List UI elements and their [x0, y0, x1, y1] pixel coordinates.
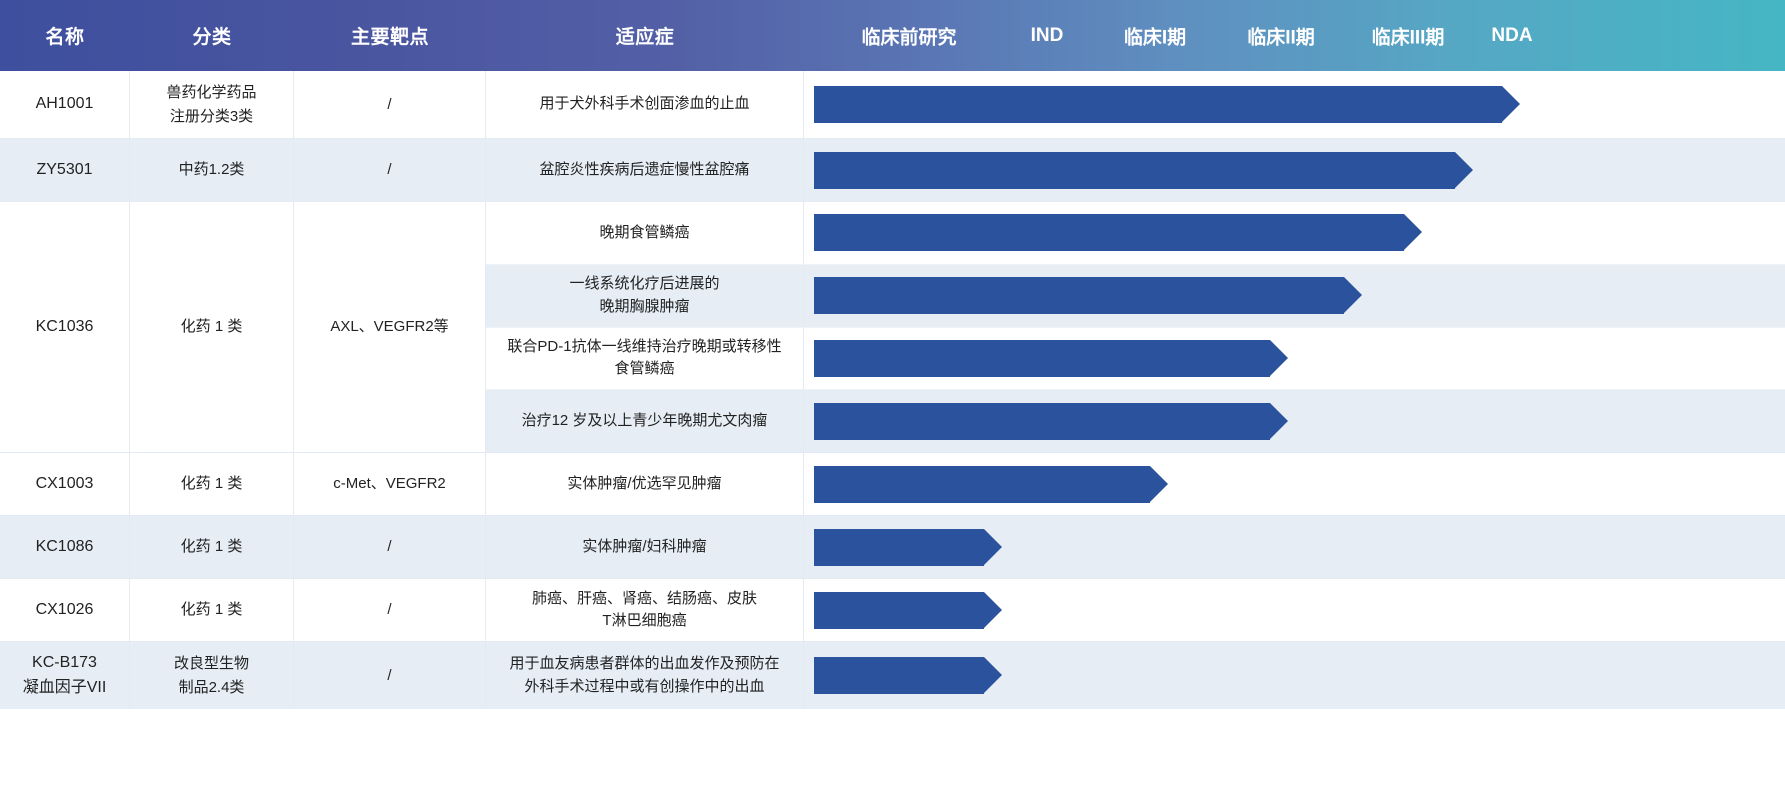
table-row: AH1001兽药化学药品注册分类3类/用于犬外科手术创面渗血的止血	[0, 71, 1785, 139]
table-row: KC-B173凝血因子VII改良型生物制品2.4类/用于血友病患者群体的出血发作…	[0, 642, 1785, 709]
indication-line: 联合PD-1抗体一线维持治疗晚期或转移性	[507, 336, 781, 359]
cell-program-name: KC1036	[0, 202, 130, 452]
progress-arrow	[814, 86, 1502, 123]
header-cell-target: 主要靶点	[294, 22, 486, 49]
progress-bar-cell	[804, 642, 1785, 709]
phase-label-3: 临床II期	[1247, 22, 1315, 49]
cell-drug-class-line: 化药 1 类	[181, 472, 243, 495]
indication-row: 一线系统化疗后进展的晚期胸腺肿瘤	[486, 264, 1785, 327]
progress-arrow	[814, 592, 984, 629]
program-name-line: KC-B173	[23, 651, 107, 676]
phase-label-0: 临床前研究	[861, 22, 956, 49]
cell-target: c-Met、VEGFR2	[294, 453, 486, 515]
header-cell-class: 分类	[130, 22, 294, 49]
cell-drug-class: 改良型生物制品2.4类	[130, 642, 294, 709]
cell-program-name: CX1003	[0, 453, 130, 515]
indication-row: 晚期食管鳞癌	[486, 202, 1785, 264]
program-name-line: AH1001	[36, 92, 94, 117]
cell-drug-class: 化药 1 类	[130, 453, 294, 515]
cell-indication: 一线系统化疗后进展的晚期胸腺肿瘤	[486, 265, 804, 327]
progress-arrow	[814, 529, 984, 566]
cell-program-name: AH1001	[0, 71, 130, 138]
phase-label-2: 临床I期	[1124, 22, 1186, 49]
indication-row: 用于犬外科手术创面渗血的止血	[486, 71, 1785, 138]
target-text: /	[387, 664, 391, 687]
indication-row: 用于血友病患者群体的出血发作及预防在外科手术过程中或有创操作中的出血	[486, 642, 1785, 709]
target-text: /	[387, 598, 391, 621]
cell-target: /	[294, 579, 486, 641]
program-name-line: KC1086	[36, 535, 94, 560]
phase-label-1: IND	[1031, 25, 1064, 47]
indication-row: 联合PD-1抗体一线维持治疗晚期或转移性食管鳞癌	[486, 327, 1785, 390]
indication-row: 治疗12 岁及以上青少年晚期尤文肉瘤	[486, 389, 1785, 452]
indication-line: 食管鳞癌	[507, 358, 781, 381]
cell-indication: 联合PD-1抗体一线维持治疗晚期或转移性食管鳞癌	[486, 328, 804, 390]
indication-line: 晚期食管鳞癌	[599, 222, 689, 245]
program-name-line: KC1036	[36, 315, 94, 340]
pipeline-table: 名称 分类 主要靶点 适应症 临床前研究IND临床I期临床II期临床III期ND…	[0, 0, 1785, 790]
cell-indication: 实体肿瘤/妇科肿瘤	[486, 516, 804, 578]
indication-subrows: 实体肿瘤/妇科肿瘤	[486, 516, 1785, 578]
cell-target: /	[294, 139, 486, 201]
indication-line: T淋巴细胞癌	[532, 610, 757, 633]
indication-line: 治疗12 岁及以上青少年晚期尤文肉瘤	[522, 410, 768, 433]
cell-drug-class: 化药 1 类	[130, 579, 294, 641]
target-text: /	[387, 93, 391, 116]
table-row: KC1086化药 1 类/实体肿瘤/妇科肿瘤	[0, 516, 1785, 579]
indication-row: 实体肿瘤/优选罕见肿瘤	[486, 453, 1785, 515]
indication-line: 外科手术过程中或有创操作中的出血	[509, 676, 779, 699]
cell-drug-class-line: 注册分类3类	[166, 105, 256, 128]
progress-arrow	[814, 340, 1270, 377]
indication-subrows: 盆腔炎性疾病后遗症慢性盆腔痛	[486, 139, 1785, 201]
progress-arrow	[814, 214, 1404, 251]
progress-arrow	[814, 277, 1344, 314]
cell-target: AXL、VEGFR2等	[294, 202, 486, 452]
program-name-line: 凝血因子VII	[23, 676, 107, 701]
program-name-line: ZY5301	[36, 158, 92, 183]
program-name-line: CX1003	[36, 472, 94, 497]
progress-bar-cell	[804, 202, 1785, 264]
target-text: c-Met、VEGFR2	[333, 472, 446, 495]
cell-drug-class-line: 化药 1 类	[181, 598, 243, 621]
indication-line: 用于血友病患者群体的出血发作及预防在	[509, 653, 779, 676]
progress-bar-cell	[804, 139, 1785, 201]
cell-drug-class: 兽药化学药品注册分类3类	[130, 71, 294, 138]
phase-label-5: NDA	[1491, 25, 1532, 47]
progress-bar-cell	[804, 265, 1785, 327]
indication-subrows: 肺癌、肝癌、肾癌、结肠癌、皮肤T淋巴细胞癌	[486, 579, 1785, 641]
cell-drug-class: 化药 1 类	[130, 516, 294, 578]
cell-drug-class-line: 兽药化学药品	[166, 81, 256, 104]
progress-arrow	[814, 657, 984, 694]
indication-line: 用于犬外科手术创面渗血的止血	[539, 93, 749, 116]
cell-target: /	[294, 516, 486, 578]
progress-bar-cell	[804, 390, 1785, 452]
indication-row: 肺癌、肝癌、肾癌、结肠癌、皮肤T淋巴细胞癌	[486, 579, 1785, 641]
target-text: /	[387, 535, 391, 558]
cell-indication: 治疗12 岁及以上青少年晚期尤文肉瘤	[486, 390, 804, 452]
cell-program-name: CX1026	[0, 579, 130, 641]
phase-label-4: 临床III期	[1372, 22, 1445, 49]
header-phase-axis: 临床前研究IND临床I期临床II期临床III期NDA	[804, 0, 1785, 71]
indication-line: 晚期胸腺肿瘤	[569, 296, 719, 319]
progress-bar-cell	[804, 328, 1785, 390]
cell-indication: 用于犬外科手术创面渗血的止血	[486, 71, 804, 138]
cell-target: /	[294, 642, 486, 709]
cell-drug-class-line: 制品2.4类	[174, 676, 249, 699]
cell-indication: 肺癌、肝癌、肾癌、结肠癌、皮肤T淋巴细胞癌	[486, 579, 804, 641]
cell-indication: 晚期食管鳞癌	[486, 202, 804, 264]
cell-indication: 实体肿瘤/优选罕见肿瘤	[486, 453, 804, 515]
cell-drug-class-line: 化药 1 类	[181, 315, 243, 338]
progress-arrow	[814, 466, 1150, 503]
target-text: /	[387, 158, 391, 181]
indication-line: 实体肿瘤/优选罕见肿瘤	[567, 473, 721, 496]
progress-bar-cell	[804, 453, 1785, 515]
cell-drug-class-line: 中药1.2类	[179, 158, 245, 181]
indication-subrows: 用于血友病患者群体的出血发作及预防在外科手术过程中或有创操作中的出血	[486, 642, 1785, 709]
table-row: CX1003化药 1 类c-Met、VEGFR2实体肿瘤/优选罕见肿瘤	[0, 453, 1785, 516]
cell-drug-class: 中药1.2类	[130, 139, 294, 201]
cell-indication: 盆腔炎性疾病后遗症慢性盆腔痛	[486, 139, 804, 201]
progress-bar-cell	[804, 579, 1785, 641]
progress-arrow	[814, 152, 1455, 189]
cell-drug-class: 化药 1 类	[130, 202, 294, 452]
progress-bar-cell	[804, 516, 1785, 578]
indication-line: 盆腔炎性疾病后遗症慢性盆腔痛	[539, 159, 749, 182]
table-body: AH1001兽药化学药品注册分类3类/用于犬外科手术创面渗血的止血ZY5301中…	[0, 71, 1785, 709]
indication-subrows: 晚期食管鳞癌一线系统化疗后进展的晚期胸腺肿瘤联合PD-1抗体一线维持治疗晚期或转…	[486, 202, 1785, 452]
table-row: CX1026化药 1 类/肺癌、肝癌、肾癌、结肠癌、皮肤T淋巴细胞癌	[0, 579, 1785, 642]
cell-target: /	[294, 71, 486, 138]
cell-program-name: KC1086	[0, 516, 130, 578]
header-cell-name: 名称	[0, 22, 130, 49]
target-text: AXL、VEGFR2等	[330, 315, 448, 338]
indication-line: 肺癌、肝癌、肾癌、结肠癌、皮肤	[532, 588, 757, 611]
cell-program-name: KC-B173凝血因子VII	[0, 642, 130, 709]
indication-row: 实体肿瘤/妇科肿瘤	[486, 516, 1785, 578]
indication-row: 盆腔炎性疾病后遗症慢性盆腔痛	[486, 139, 1785, 201]
cell-program-name: ZY5301	[0, 139, 130, 201]
cell-drug-class-line: 改良型生物	[174, 652, 249, 675]
table-header-row: 名称 分类 主要靶点 适应症 临床前研究IND临床I期临床II期临床III期ND…	[0, 0, 1785, 71]
cell-indication: 用于血友病患者群体的出血发作及预防在外科手术过程中或有创操作中的出血	[486, 642, 804, 709]
indication-subrows: 实体肿瘤/优选罕见肿瘤	[486, 453, 1785, 515]
table-row: KC1036化药 1 类AXL、VEGFR2等晚期食管鳞癌一线系统化疗后进展的晚…	[0, 202, 1785, 453]
progress-arrow	[814, 403, 1270, 440]
table-row: ZY5301中药1.2类/盆腔炎性疾病后遗症慢性盆腔痛	[0, 139, 1785, 202]
program-name-line: CX1026	[36, 598, 94, 623]
indication-line: 一线系统化疗后进展的	[569, 273, 719, 296]
header-cell-indication: 适应症	[486, 22, 804, 49]
indication-subrows: 用于犬外科手术创面渗血的止血	[486, 71, 1785, 138]
cell-drug-class-line: 化药 1 类	[181, 535, 243, 558]
indication-line: 实体肿瘤/妇科肿瘤	[582, 536, 706, 559]
progress-bar-cell	[804, 71, 1785, 138]
